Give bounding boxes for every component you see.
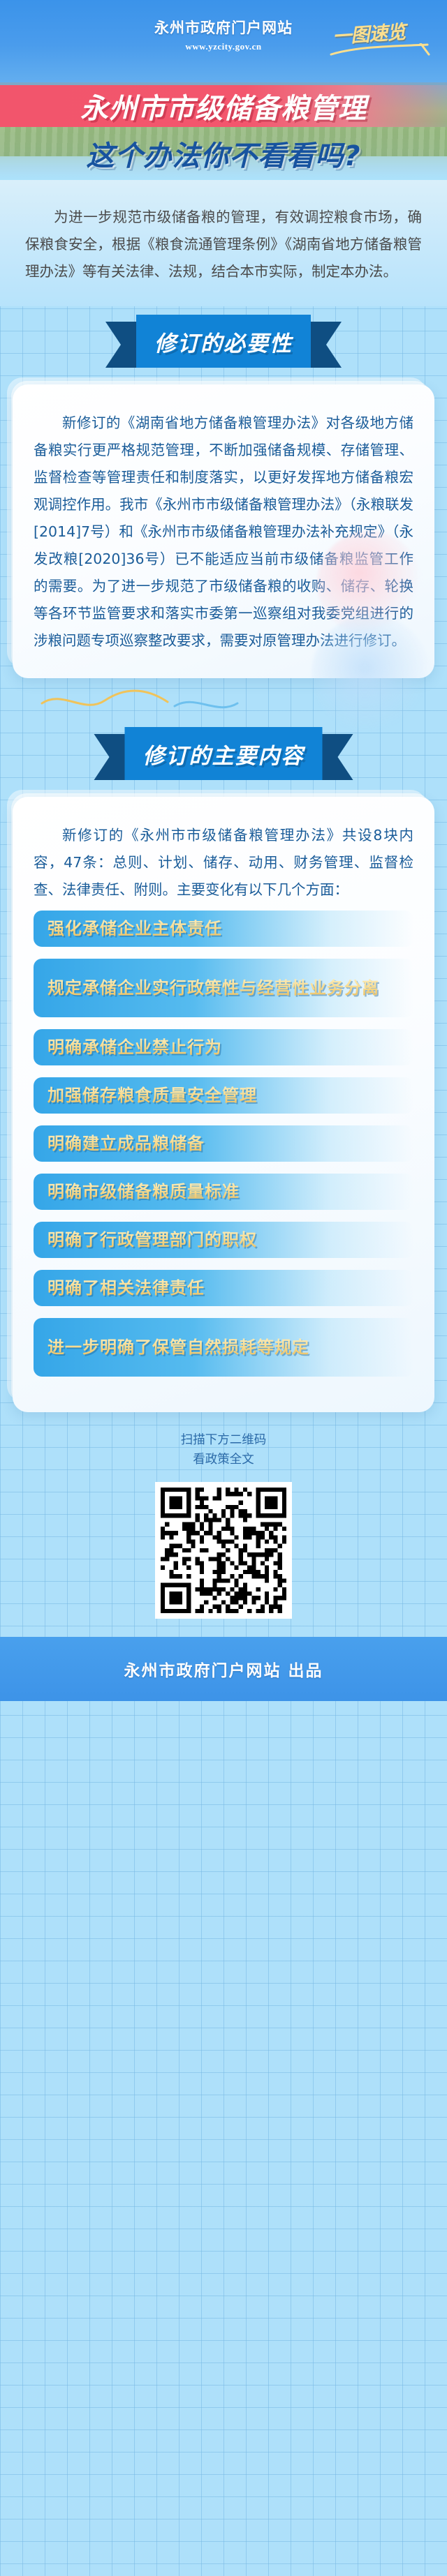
change-point-label: 明确了行政管理部门的职权 bbox=[47, 1228, 257, 1252]
change-point-pill: 规定承储企业实行政策性与经营性业务分离 bbox=[34, 959, 413, 1017]
ribbon-tail-left bbox=[105, 322, 136, 368]
site-header: 永州市政府门户网站 www.yzcity.gov.cn 一图速览 bbox=[0, 0, 447, 82]
qr-instruction-line2: 看政策全文 bbox=[0, 1450, 447, 1469]
section-banner-label: 修订的主要内容 bbox=[125, 727, 323, 780]
change-point-label: 明确市级储备粮质量标准 bbox=[47, 1180, 240, 1204]
infographic-page: 永州市政府门户网站 www.yzcity.gov.cn 一图速览 永州市市级储备… bbox=[0, 0, 447, 2576]
brush-swoosh-icon bbox=[330, 43, 433, 59]
change-point-label: 规定承储企业实行政策性与经营性业务分离 bbox=[47, 976, 379, 1000]
section-banner-label: 修订的必要性 bbox=[136, 315, 311, 368]
squiggle-icon bbox=[0, 678, 447, 719]
main-content-paragraph: 新修订的《永州市市级储备粮管理办法》共设8块内容，47条：总则、计划、储存、动用… bbox=[34, 822, 413, 904]
section-banner-main-content: 修订的主要内容 bbox=[0, 719, 447, 797]
change-point-pill: 明确了相关法律责任 bbox=[34, 1270, 413, 1306]
necessity-paragraph: 新修订的《湖南省地方储备粮管理办法》对各级地方储备粮实行更严格规范管理，不断加强… bbox=[34, 410, 413, 654]
qr-code[interactable] bbox=[155, 1482, 292, 1619]
change-point-label: 强化承储企业主体责任 bbox=[47, 917, 222, 941]
necessity-card-wrap: 新修订的《湖南省地方储备粮管理办法》对各级地方储备粮实行更严格规范管理，不断加强… bbox=[0, 384, 447, 678]
change-point-pill: 明确承储企业禁止行为 bbox=[34, 1029, 413, 1065]
ribbon-tail-right bbox=[311, 322, 342, 368]
change-point-pill: 强化承储企业主体责任 bbox=[34, 911, 413, 947]
main-content-card: 新修订的《永州市市级储备粮管理办法》共设8块内容，47条：总则、计划、储存、动用… bbox=[13, 797, 434, 1412]
hero-title-line2: 这个办法你不看看吗? bbox=[0, 133, 447, 174]
change-point-pill: 明确了行政管理部门的职权 bbox=[34, 1222, 413, 1258]
hero-title-block: 永州市市级储备粮管理 这个办法你不看看吗? bbox=[0, 82, 447, 180]
change-point-label: 明确了相关法律责任 bbox=[47, 1276, 205, 1300]
change-point-label: 加强储存粮食质量安全管理 bbox=[47, 1084, 257, 1107]
intro-paragraph: 为进一步规范市级储备粮的管理，有效调控粮食市场，确保粮食安全，根据《粮食流通管理… bbox=[25, 204, 422, 285]
footer-block: 扫描下方二维码 看政策全文 永州市政府门户网站 出品 bbox=[0, 1412, 447, 1701]
change-points-list: 强化承储企业主体责任规定承储企业实行政策性与经营性业务分离明确承储企业禁止行为加… bbox=[34, 911, 413, 1377]
change-point-pill: 进一步明确了保管自然损耗等规定 bbox=[34, 1318, 413, 1377]
change-point-pill: 明确市级储备粮质量标准 bbox=[34, 1174, 413, 1210]
footer-credit: 永州市政府门户网站 出品 bbox=[0, 1637, 447, 1701]
main-content-card-wrap: 新修订的《永州市市级储备粮管理办法》共设8块内容，47条：总则、计划、储存、动用… bbox=[0, 797, 447, 1412]
qr-instruction: 扫描下方二维码 看政策全文 bbox=[0, 1430, 447, 1469]
hero-title-line1: 永州市市级储备粮管理 bbox=[0, 85, 447, 127]
ribbon-tail-right bbox=[323, 734, 353, 780]
change-point-label: 明确建立成品粮储备 bbox=[47, 1132, 205, 1155]
change-point-pill: 加强储存粮食质量安全管理 bbox=[34, 1077, 413, 1114]
brand-badge: 一图速览 bbox=[330, 14, 434, 64]
qr-instruction-line1: 扫描下方二维码 bbox=[0, 1430, 447, 1450]
section-banner-necessity: 修订的必要性 bbox=[0, 306, 447, 384]
necessity-card: 新修订的《湖南省地方储备粮管理办法》对各级地方储备粮实行更严格规范管理，不断加强… bbox=[13, 384, 434, 678]
intro-panel: 为进一步规范市级储备粮的管理，有效调控粮食市场，确保粮食安全，根据《粮食流通管理… bbox=[0, 180, 447, 306]
change-point-label: 进一步明确了保管自然损耗等规定 bbox=[47, 1335, 309, 1359]
change-point-pill: 明确建立成品粮储备 bbox=[34, 1125, 413, 1162]
qr-code-icon[interactable] bbox=[161, 1488, 286, 1613]
change-point-label: 明确承储企业禁止行为 bbox=[47, 1035, 222, 1059]
decorative-squiggle bbox=[0, 678, 447, 719]
ribbon-tail-left bbox=[94, 734, 125, 780]
